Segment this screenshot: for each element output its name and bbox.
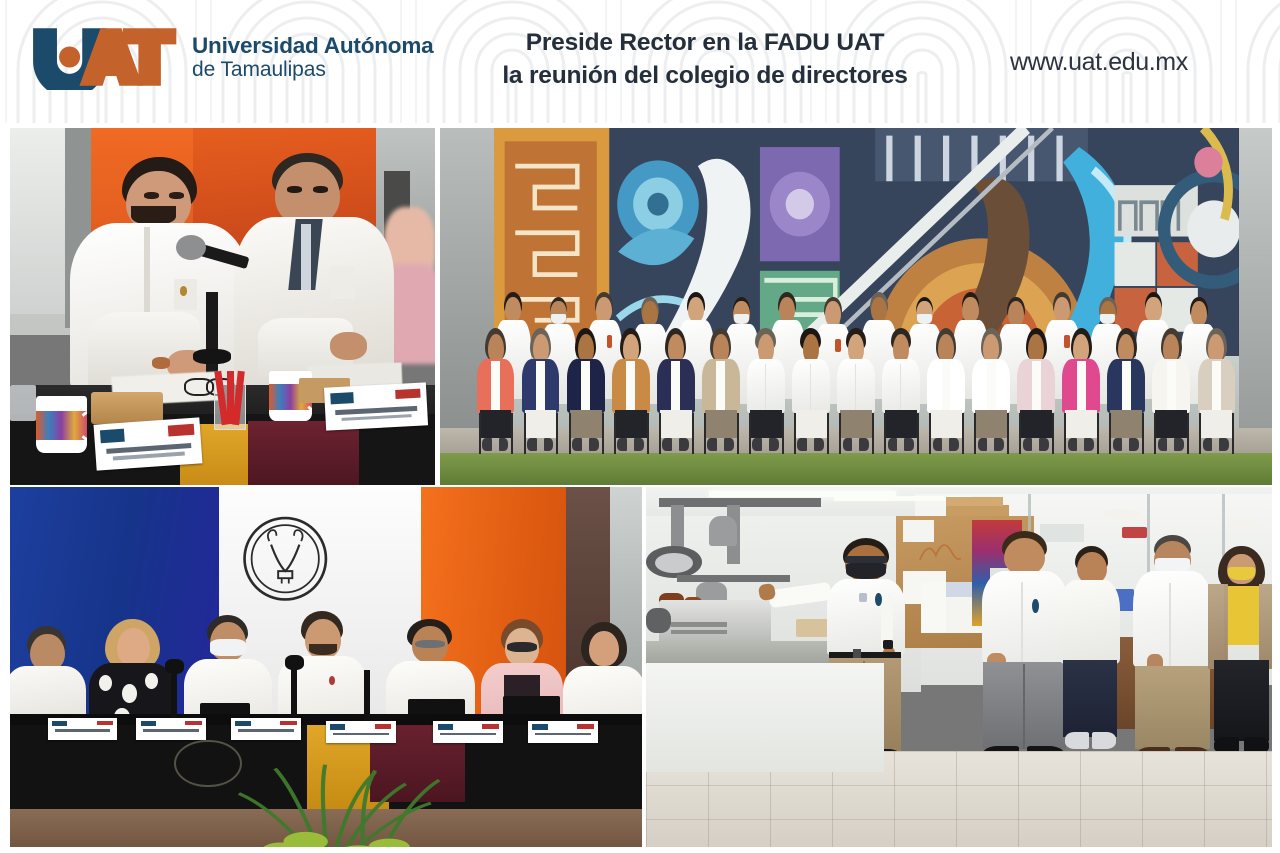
group-photo-person — [882, 328, 919, 457]
group-photo-person — [747, 328, 784, 457]
name-placard — [323, 382, 427, 430]
group-photo-person — [1107, 328, 1144, 457]
brand-name-line1: Universidad Autónoma — [192, 33, 433, 58]
uat-seal-icon — [241, 513, 329, 605]
brand-name: Universidad Autónoma de Tamaulipas — [192, 33, 433, 82]
photo-group-mural — [440, 128, 1272, 485]
group-photo-person — [1152, 328, 1189, 457]
brand-name-line2: de Tamaulipas — [192, 58, 433, 82]
name-placard — [528, 721, 598, 743]
group-photo-person — [522, 328, 559, 457]
uat-brand-logo[interactable]: Universidad Autónoma de Tamaulipas — [30, 24, 433, 90]
uat-logo-icon — [30, 24, 178, 90]
headline-line-2: la reunión del colegio de directores — [440, 60, 970, 93]
group-photo-person — [1198, 328, 1235, 457]
photo-panel-table — [10, 487, 642, 853]
page-bottom-edge — [0, 847, 1280, 853]
headline-line-1: Preside Rector en la FADU UAT — [440, 27, 970, 60]
group-photo-person — [612, 328, 649, 457]
website-url[interactable]: www.uat.edu.mx — [1010, 48, 1240, 77]
name-placard — [136, 718, 206, 740]
group-photo-person — [567, 328, 604, 457]
group-photo-person — [1017, 328, 1054, 457]
group-photo-person — [792, 328, 829, 457]
group-photo-person — [477, 328, 514, 457]
news-banner-page: Universidad Autónoma de Tamaulipas Presi… — [0, 0, 1280, 853]
photo-meeting-head-table — [10, 128, 435, 485]
name-placard — [94, 417, 203, 471]
group-photo-person — [837, 328, 874, 457]
group-photo-person — [1062, 328, 1099, 457]
group-photo-person — [657, 328, 694, 457]
photo-gallery — [0, 123, 1280, 853]
page-title: Preside Rector en la FADU UAT la reunión… — [440, 27, 970, 92]
name-placard — [48, 718, 118, 740]
page-header: Universidad Autónoma de Tamaulipas Presi… — [0, 0, 1280, 123]
uat-mug — [36, 396, 87, 453]
group-photo-person — [702, 328, 739, 457]
photo-lab-tour — [646, 487, 1272, 853]
group-photo-person — [972, 328, 1009, 457]
group-photo-person — [927, 328, 964, 457]
